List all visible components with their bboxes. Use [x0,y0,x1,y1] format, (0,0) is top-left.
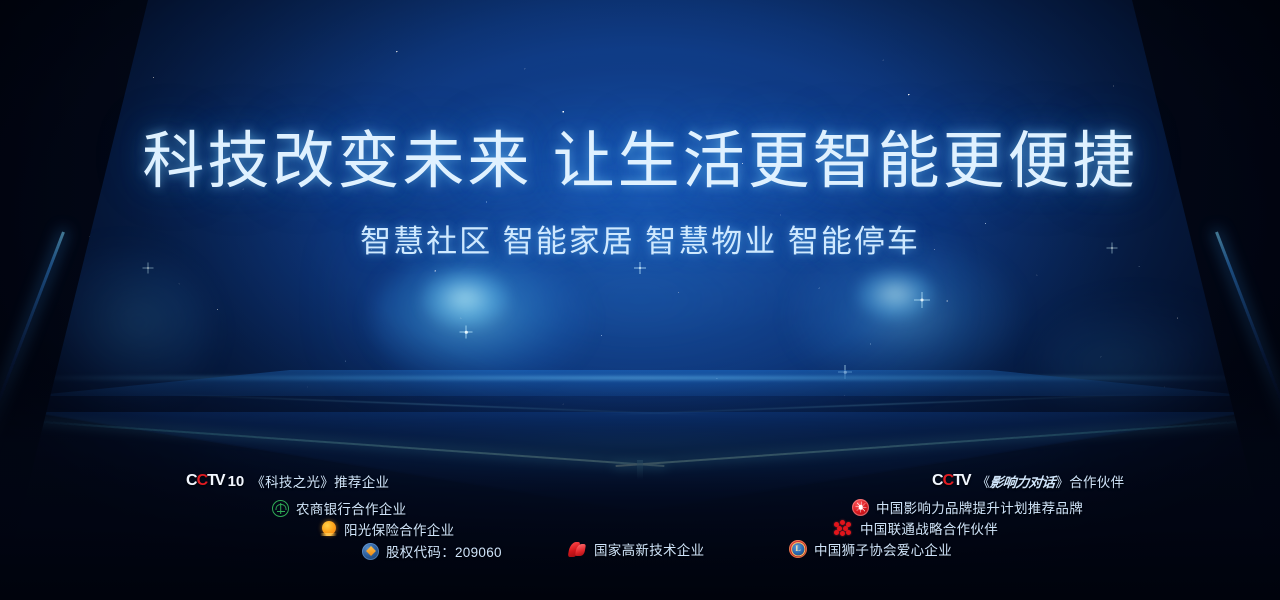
bracket-close-icon: 》 [1055,475,1069,490]
cctv-letter-c1: C [186,473,197,489]
credential-label: 农商银行合作企业 [296,498,406,518]
cctv-letters-tv: TV [207,473,223,489]
sunshine-insurance-sun-logo [320,521,337,538]
cctv-dialogue-program-name: 影响力对话 [989,471,1056,491]
credential-label: 股权代码：209060 [386,541,502,561]
credential-label: 国家高新技术企业 [594,539,704,559]
stage-platform [0,382,1280,512]
cctv-letter-c1: C [932,473,943,489]
cctv-letters-tv: TV [953,473,969,489]
starfield-layer-bright [0,0,1280,430]
stage-horizon-line [0,376,1280,380]
vignette-overlay [0,0,1280,600]
national-hi-tech-flame-logo [568,541,587,558]
nebula-right-core [855,268,935,320]
nebula-center-core [420,268,510,328]
starfield-layer-faint [0,0,1280,430]
cctv-letter-c2: C [197,473,208,489]
bracket-close-icon: 》 [320,475,334,490]
cctv-logo: CCTV [932,473,970,489]
credential-label: 阳光保险合作企业 [344,519,454,539]
credential-label: 中国影响力品牌提升计划推荐品牌 [876,497,1083,517]
china-unicom-logo [834,520,853,536]
china-influence-brand-seal-logo [852,499,869,516]
credential-cctv-dialogue: CCTV 《影响力对话》合作伙伴 [932,471,1124,491]
cctv-logo: CCTV 10 [186,473,244,490]
equity-code-logo [362,543,379,560]
center-glow [330,170,950,430]
floor-streak-right [600,393,1160,415]
stage-center-notch [637,460,643,480]
nebula-left [30,250,210,410]
bracket-open-icon: 《 [251,475,265,490]
floor-streak-left [150,393,710,415]
cctv-dialogue-credential-label: 合作伙伴 [1069,475,1124,490]
credential-national-hi-tech: 国家高新技术企业 [568,539,704,559]
credential-label: 中国狮子协会爱心企业 [814,539,952,559]
cctv-letter-c2: C [943,473,954,489]
credential-cctv10: CCTV 10 《科技之光》推荐企业 [186,471,389,491]
wing-light-beam-left [0,231,65,512]
cctv10-program-name: 科技之光 [265,475,320,490]
credential-label: 中国联通战略合作伙伴 [860,518,998,538]
credential-china-unicom: 中国联通战略合作伙伴 [834,518,998,538]
nebula-center [370,250,590,390]
page-subtitle: 智慧社区 智能家居 智慧物业 智能停车 [0,216,1280,261]
rural-commercial-bank-logo [272,500,289,517]
stage-edge-left [0,418,664,467]
cctv-channel-number: 10 [228,473,245,490]
lions-clubs-logo [789,540,807,558]
page-title: 科技改变未来 让生活更智能更便捷 [0,128,1280,196]
stage-back-panel [0,370,1280,400]
wing-light-beam-right [1215,231,1280,512]
credential-rural-commercial-bank: 农商银行合作企业 [272,498,406,518]
credential-lions-clubs: 中国狮子协会爱心企业 [789,539,952,559]
nebula-far-right [1040,300,1240,430]
stage-edge-right [616,418,1280,467]
stage-floor [0,398,1280,518]
credential-equity-code: 股权代码：209060 [362,541,502,561]
cctv10-credential-label: 推荐企业 [334,475,389,490]
nebula-right [790,240,1020,390]
credential-china-influence-brand: 中国影响力品牌提升计划推荐品牌 [852,497,1083,517]
credential-sunshine-insurance: 阳光保险合作企业 [320,519,454,539]
banner-stage: 科技改变未来 让生活更智能更便捷 智慧社区 智能家居 智慧物业 智能停车 CCT… [0,0,1280,600]
